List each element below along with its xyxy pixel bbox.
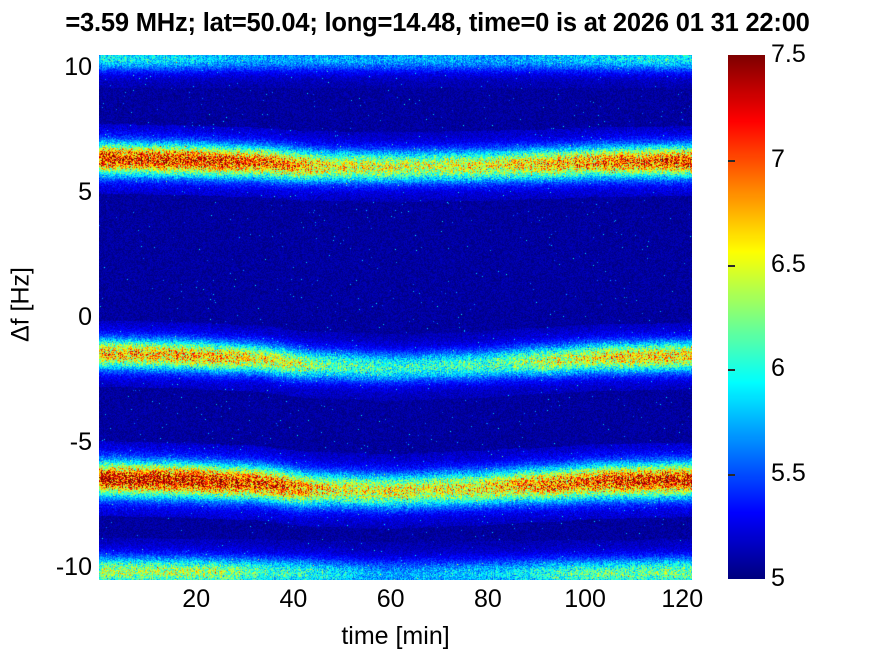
figure-canvas: =3.59 MHz; lat=50.04; long=14.48, time=0… <box>0 0 875 656</box>
page-title: =3.59 MHz; lat=50.04; long=14.48, time=0… <box>0 8 875 38</box>
spectrogram-axes <box>99 55 692 580</box>
colorbar-tick-mark <box>728 265 735 267</box>
colorbar-tick-label: 5 <box>771 566 851 591</box>
x-tick-label: 120 <box>622 585 742 613</box>
colorbar-tick-mark <box>728 160 735 162</box>
spectrogram-image <box>99 55 692 580</box>
y-tick-label: -5 <box>4 430 92 455</box>
colorbar-tick-label: 7 <box>771 147 851 172</box>
colorbar[interactable]: 55.566.577.5 <box>728 55 765 579</box>
colorbar-tick-label: 6.5 <box>771 252 851 277</box>
colorbar-tick-mark <box>728 474 735 476</box>
y-tick-label: 0 <box>4 305 92 330</box>
y-tick-label: 10 <box>4 55 92 80</box>
colorbar-tick-label: 5.5 <box>771 461 851 486</box>
colorbar-tick-mark <box>728 369 735 371</box>
colorbar-tick-label: 6 <box>771 356 851 381</box>
y-axis: Δf [Hz] 1050-5-10 <box>0 0 92 656</box>
colorbar-tick-label: 7.5 <box>771 42 851 67</box>
colorbar-gradient <box>728 55 765 579</box>
y-tick-label: 5 <box>4 180 92 205</box>
y-tick-label: -10 <box>4 555 92 580</box>
x-axis-label: time [min] <box>99 622 692 650</box>
